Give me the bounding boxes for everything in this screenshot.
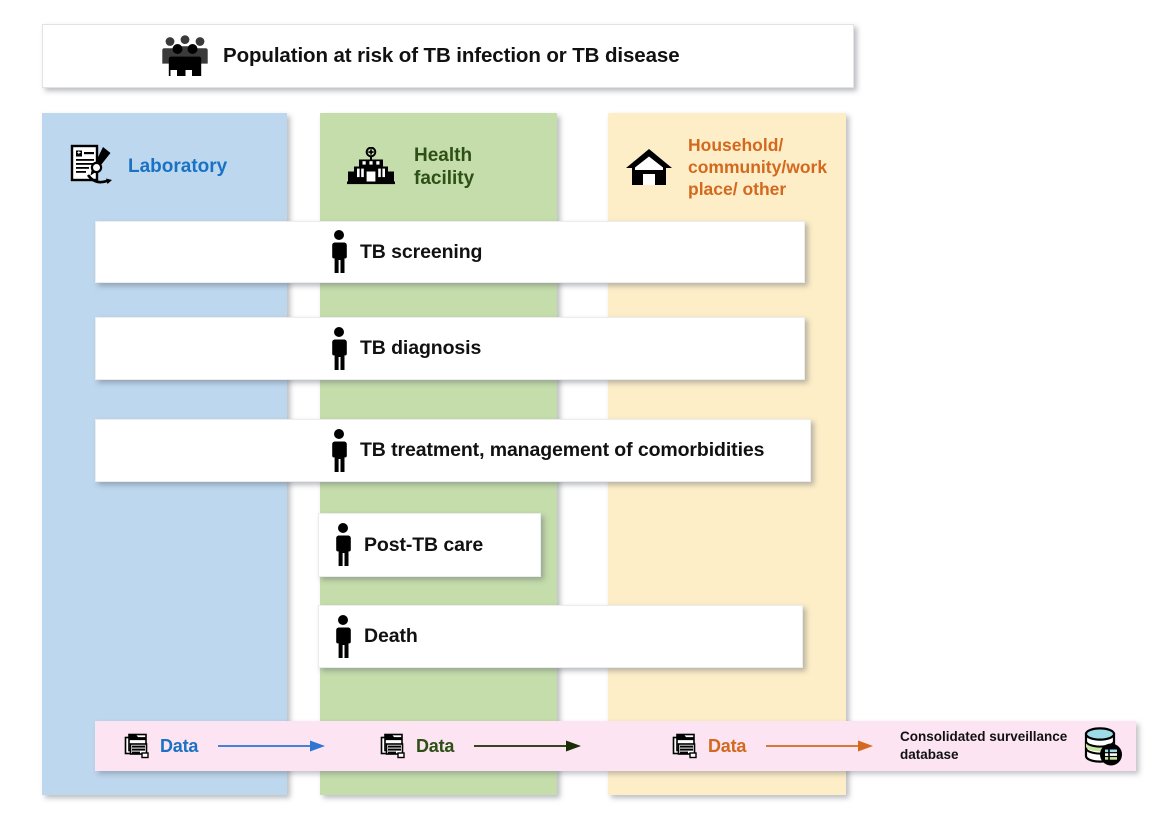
step-death-label: Death bbox=[364, 625, 418, 648]
column-health-facility-label: Health facility bbox=[414, 144, 474, 190]
flow-arrow-household-to-database bbox=[766, 739, 874, 753]
flow-arrow-lab-to-facility bbox=[218, 739, 326, 753]
person-icon bbox=[328, 326, 350, 372]
step-tb-screening-label: TB screening bbox=[360, 241, 482, 264]
data-flow-band: Data Data bbox=[95, 721, 1136, 771]
person-icon bbox=[328, 229, 350, 275]
data-group-household: Data bbox=[672, 721, 874, 771]
person-icon bbox=[332, 522, 354, 568]
house-icon bbox=[624, 146, 674, 188]
column-laboratory-header: Laboratory bbox=[42, 113, 287, 221]
column-household-community-label: Household/ community/work place/ other bbox=[688, 134, 827, 201]
lab-report-microscope-icon bbox=[70, 144, 114, 190]
step-post-tb-care-label: Post-TB care bbox=[364, 534, 483, 557]
data-label-household: Data bbox=[708, 736, 746, 757]
people-group-icon bbox=[161, 34, 209, 78]
step-tb-diagnosis: TB diagnosis bbox=[95, 317, 805, 380]
data-label-laboratory: Data bbox=[160, 736, 198, 757]
step-death: Death bbox=[318, 605, 803, 668]
diagram-canvas: Population at risk of TB infection or TB… bbox=[0, 0, 1173, 831]
column-health-facility-header: Health facility bbox=[320, 113, 557, 221]
column-laboratory-label: Laboratory bbox=[128, 155, 227, 178]
step-post-tb-care: Post-TB care bbox=[318, 513, 541, 577]
flow-arrow-facility-to-household bbox=[474, 739, 582, 753]
data-label-health-facility: Data bbox=[416, 736, 454, 757]
data-records-icon bbox=[672, 732, 700, 760]
hospital-building-icon bbox=[344, 147, 398, 187]
data-records-icon bbox=[124, 732, 152, 760]
step-tb-screening: TB screening bbox=[95, 221, 805, 283]
data-group-health-facility: Data bbox=[380, 721, 582, 771]
step-tb-treatment: TB treatment, management of comorbiditie… bbox=[95, 419, 811, 482]
consolidated-database-label: Consolidated surveillance database bbox=[900, 728, 1080, 764]
data-group-laboratory: Data bbox=[124, 721, 326, 771]
person-icon bbox=[332, 614, 354, 660]
data-records-icon bbox=[380, 732, 408, 760]
consolidated-database-block: Consolidated surveillance database bbox=[900, 721, 1124, 771]
database-cylinder-icon bbox=[1082, 725, 1124, 767]
population-banner-label: Population at risk of TB infection or TB… bbox=[223, 44, 680, 68]
step-tb-treatment-label: TB treatment, management of comorbiditie… bbox=[360, 439, 764, 462]
population-banner: Population at risk of TB infection or TB… bbox=[42, 24, 854, 88]
column-household-community-header: Household/ community/work place/ other bbox=[608, 113, 846, 221]
person-icon bbox=[328, 428, 350, 474]
step-tb-diagnosis-label: TB diagnosis bbox=[360, 337, 481, 360]
